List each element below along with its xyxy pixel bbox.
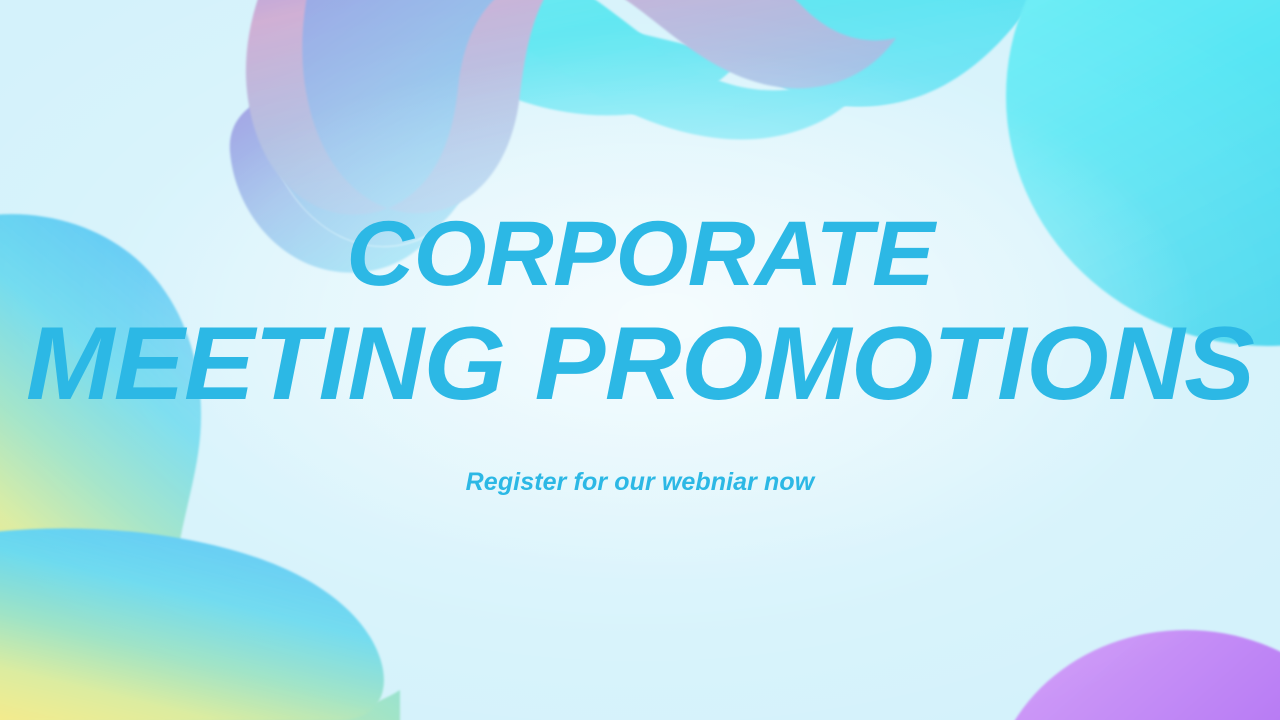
subtitle: Register for our webniar now <box>466 468 815 497</box>
promo-poster: CORPORATE MEETING PROMOTIONS Register fo… <box>0 0 1280 720</box>
text-content: CORPORATE MEETING PROMOTIONS Register fo… <box>0 0 1280 720</box>
headline-line-1: CORPORATE <box>346 209 934 299</box>
headline-line-2: MEETING PROMOTIONS <box>26 314 1254 416</box>
